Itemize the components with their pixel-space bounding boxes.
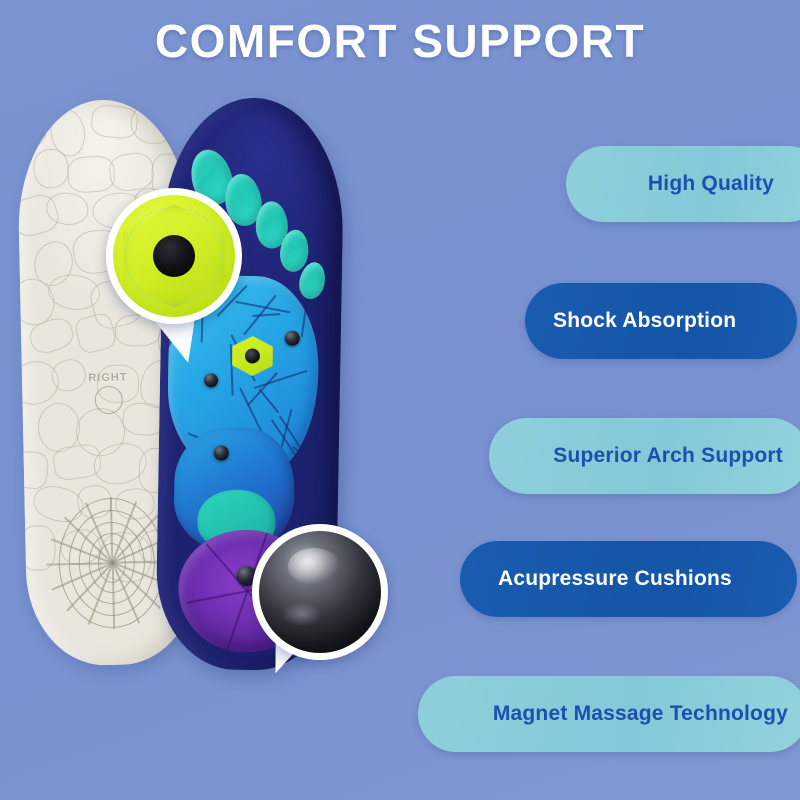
bead-closeup-callout (252, 524, 388, 660)
feature-pill-magnet-massage-technology[interactable]: Magnet Massage Technology (418, 676, 800, 752)
mosaic-crack (316, 370, 320, 406)
feature-label: Magnet Massage Technology (493, 702, 788, 726)
feature-label: Shock Absorption (553, 309, 736, 333)
feature-label: High Quality (648, 172, 774, 196)
feature-pill-high-quality[interactable]: High Quality (566, 146, 800, 222)
magnet-core-icon (153, 235, 195, 277)
mosaic-crack (254, 370, 308, 389)
emboss-logo-icon (94, 386, 123, 415)
texture-cell (107, 151, 155, 193)
insole-emboss-label: RIGHT (88, 372, 128, 415)
heel-seam (226, 591, 248, 650)
feature-label: Acupressure Cushions (498, 567, 732, 591)
feature-label: Superior Arch Support (553, 444, 783, 468)
texture-cell (16, 450, 49, 490)
promo-banner: COMFORT SUPPORT RIGHT (0, 0, 800, 800)
texture-cell (126, 98, 180, 148)
feature-pill-superior-arch-support[interactable]: Superior Arch Support (489, 418, 800, 494)
texture-cell (16, 107, 48, 151)
sphere-highlight (288, 548, 339, 585)
magnet-closeup-callout (106, 188, 242, 324)
texture-cell (32, 148, 70, 189)
sphere-secondary-highlight (281, 602, 322, 626)
product-image: RIGHT (0, 92, 430, 692)
heel-seam (186, 590, 247, 604)
texture-cell (66, 155, 115, 193)
feature-pill-shock-absorption[interactable]: Shock Absorption (525, 283, 797, 359)
heel-ring-texture (58, 498, 165, 628)
feature-pill-acupressure-cushions[interactable]: Acupressure Cushions (460, 541, 797, 617)
page-title: COMFORT SUPPORT (0, 14, 800, 68)
